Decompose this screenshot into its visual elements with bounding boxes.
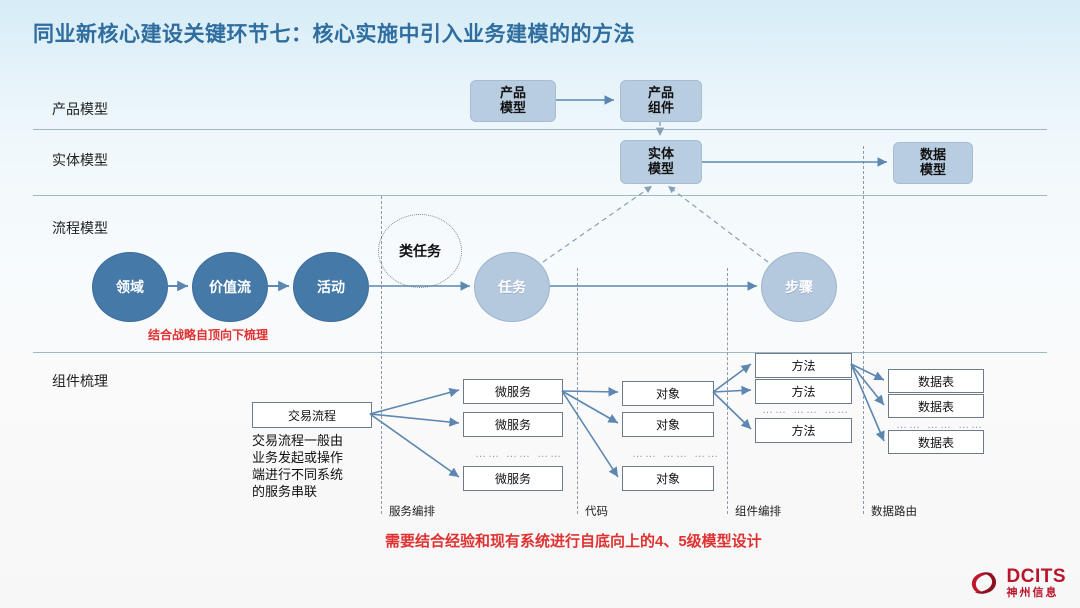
arrow-ms-to-obj3: [562, 391, 618, 477]
company-logo: DCITS 神州信息: [967, 566, 1067, 600]
note-top-down-strategy: 结合战略自顶向下梳理: [148, 326, 268, 343]
box-trade-flow[interactable]: 交易流程: [252, 402, 372, 428]
box-product-component[interactable]: 产品 组件: [620, 80, 702, 122]
arrow-tradeflow-to-ms3: [370, 414, 459, 477]
box-microservice-3[interactable]: 微服务: [463, 466, 563, 491]
column-divider-4: [863, 146, 864, 514]
page-title: 同业新核心建设关键环节七：核心实施中引入业务建模的的方法: [33, 18, 635, 48]
box-object-1[interactable]: 对象: [622, 381, 714, 406]
band-separator-3: [33, 352, 1047, 353]
arrow-ms-to-obj1: [562, 391, 618, 392]
arrow-obj-to-method1: [713, 364, 751, 392]
arrow-obj-to-method2: [713, 390, 751, 392]
row-label-product-model: 产品模型: [52, 99, 108, 119]
arrow-method-to-table3: [851, 364, 884, 441]
slide-canvas: 同业新核心建设关键环节七：核心实施中引入业务建模的的方法 产品模型 实体模型 流…: [0, 0, 1080, 608]
circle-activity[interactable]: 活动: [293, 252, 369, 322]
band-separator-2: [33, 195, 1047, 196]
arrow-method-to-table2: [851, 364, 884, 405]
circle-domain[interactable]: 领域: [92, 252, 168, 322]
dashed-task-to-entity: [543, 186, 652, 262]
row-label-process-model: 流程模型: [52, 218, 108, 238]
column-caption-data-routing: 数据路由: [871, 503, 917, 519]
dcits-swirl-icon: [967, 566, 1001, 600]
circle-task-class[interactable]: 类任务: [378, 214, 462, 288]
box-method-1[interactable]: 方法: [755, 353, 852, 378]
column-caption-component-orchestration: 组件编排: [735, 503, 781, 519]
arrow-method-to-table1: [851, 364, 884, 380]
note-bottom-up-model-design: 需要结合经验和现有系统进行自底向上的4、5级模型设计: [385, 530, 762, 551]
arrow-ms-to-obj2: [562, 391, 618, 423]
box-object-3[interactable]: 对象: [622, 466, 714, 491]
arrow-obj-to-method3: [713, 392, 751, 429]
circle-task[interactable]: 任务: [474, 252, 550, 322]
box-method-2[interactable]: 方法: [755, 379, 852, 404]
column-caption-service-orchestration: 服务编排: [389, 503, 435, 519]
box-entity-model[interactable]: 实体 模型: [620, 140, 702, 184]
box-microservice-1[interactable]: 微服务: [463, 379, 563, 404]
band-separator-1: [33, 129, 1047, 130]
box-data-table-3[interactable]: 数据表: [888, 430, 984, 454]
box-data-table-2[interactable]: 数据表: [888, 394, 984, 418]
row-label-entity-model: 实体模型: [52, 150, 108, 170]
logo-text-cn: 神州信息: [1007, 588, 1067, 599]
box-microservice-2[interactable]: 微服务: [463, 412, 563, 437]
box-product-model[interactable]: 产品 模型: [470, 80, 556, 122]
logo-text-en: DCITS: [1007, 567, 1067, 586]
dashed-step-to-entity: [668, 186, 768, 262]
box-method-3[interactable]: 方法: [755, 418, 852, 443]
column-divider-3: [727, 268, 728, 514]
box-data-model[interactable]: 数据 模型: [893, 142, 973, 184]
object-ellipsis: …… …… ……: [632, 448, 720, 460]
arrow-tradeflow-to-ms2: [370, 414, 459, 423]
trade-flow-description: 交易流程一般由 业务发起或操作 端进行不同系统 的服务串联: [252, 432, 372, 501]
circle-value-stream[interactable]: 价值流: [192, 252, 268, 322]
row-label-component-sorting: 组件梳理: [52, 371, 108, 391]
box-data-table-1[interactable]: 数据表: [888, 369, 984, 393]
microservice-ellipsis: …… …… ……: [475, 448, 563, 460]
column-divider-2: [577, 268, 578, 514]
column-caption-code: 代码: [585, 503, 608, 519]
method-ellipsis: …… …… ……: [762, 404, 850, 416]
arrow-tradeflow-to-ms1: [370, 390, 459, 414]
circle-step[interactable]: 步骤: [761, 252, 837, 322]
box-object-2[interactable]: 对象: [622, 412, 714, 437]
